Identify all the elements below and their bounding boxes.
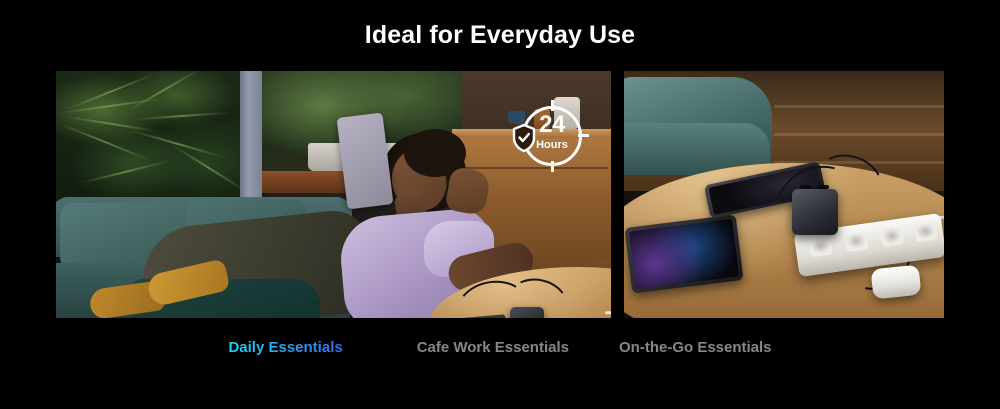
usb-port (818, 185, 829, 189)
gallery-image-daily-essentials-living-room[interactable]: 24 Hours (56, 71, 611, 318)
tablet-device (624, 214, 743, 293)
power-socket (844, 231, 868, 252)
tick-mark-top (551, 100, 554, 111)
tab-daily-essentials[interactable]: Daily Essentials (228, 338, 342, 358)
wall-charger (792, 189, 838, 235)
image-gallery: 24 Hours (56, 71, 944, 318)
tab-on-the-go-essentials[interactable]: On-the-Go Essentials (619, 338, 772, 358)
page-title: Ideal for Everyday Use (0, 18, 1000, 52)
shield-check-icon (511, 123, 537, 153)
gallery-image-daily-essentials-tabletop[interactable] (624, 71, 944, 318)
power-socket (880, 226, 904, 247)
tab-cafe-work-essentials[interactable]: Cafe Work Essentials (417, 338, 569, 358)
promo-page: Ideal for Everyday Use (0, 0, 1000, 409)
earbuds-case (871, 265, 922, 300)
wall-charger (510, 307, 544, 318)
power-socket (914, 222, 938, 243)
badge-24-hours: 24 Hours (511, 100, 589, 178)
tablet-screen (629, 219, 739, 289)
usb-port (800, 185, 811, 189)
category-tabs: Daily Essentials Cafe Work Essentials On… (0, 338, 1000, 358)
power-socket (809, 236, 833, 257)
tick-mark-bottom (551, 161, 554, 172)
